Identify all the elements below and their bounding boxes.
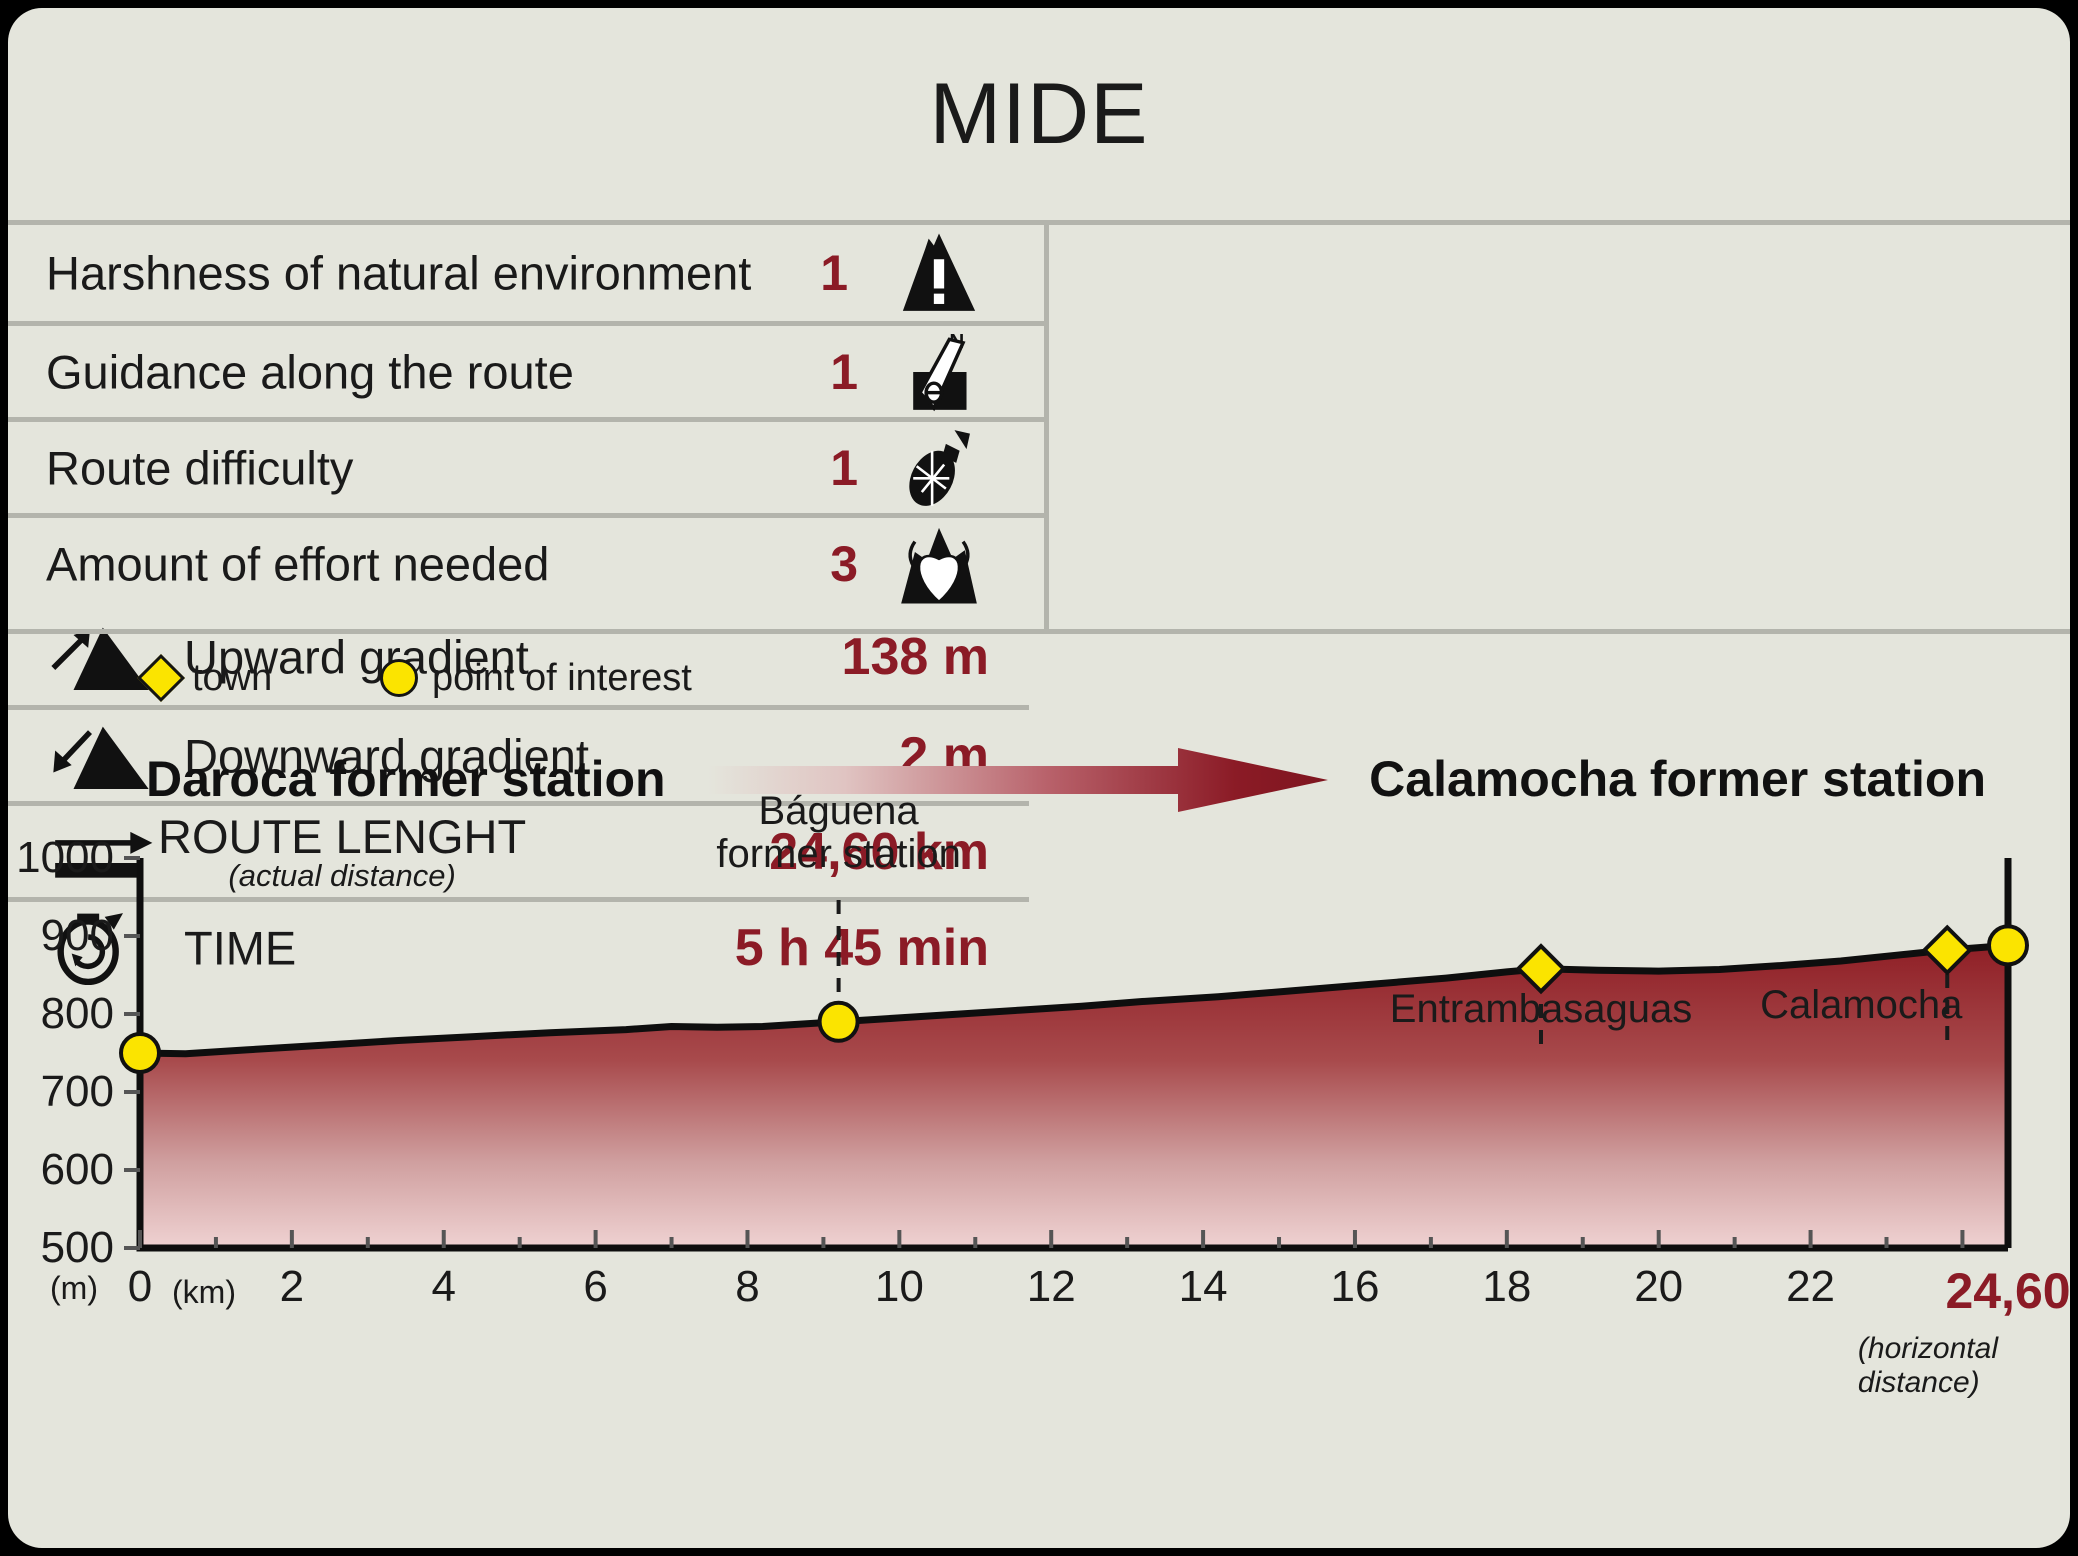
y-tick-label: 700	[41, 1067, 114, 1117]
waypoint-marker-poi[interactable]	[121, 1034, 159, 1072]
x-tick-label: 24,60	[1945, 1262, 2070, 1320]
elevation-profile-chart: 5006007008009001000024681012141618202224…	[8, 848, 2070, 1548]
criterion-value: 3	[830, 535, 858, 593]
table-row: Route difficulty 1	[8, 417, 1044, 513]
x-tick-label: 20	[1634, 1262, 1683, 1312]
x-tick-label: 22	[1786, 1262, 1835, 1312]
table-vertical-divider	[1044, 225, 1049, 629]
y-tick-label: 800	[41, 989, 114, 1039]
criterion-label: Guidance along the route	[46, 344, 574, 399]
y-tick-label: 1000	[16, 833, 114, 883]
route-endpoints: Daroca former station Calamocha former s…	[8, 734, 2070, 824]
mide-panel: MIDE Harshness of natural environment 1 …	[8, 8, 2070, 1548]
compass-icon: N	[896, 329, 982, 415]
table-row: Amount of effort needed 3	[8, 513, 1044, 609]
elevation-plot	[8, 848, 2070, 1548]
x-tick-label: 14	[1179, 1262, 1228, 1312]
x-tick-label: 12	[1027, 1262, 1076, 1312]
waypoint-label: Entrambasaguas	[1390, 988, 1692, 1031]
mide-table: Harshness of natural environment 1 Guida…	[8, 225, 2070, 629]
x-axis-description: (horizontal distance)	[1858, 1332, 1998, 1400]
table-row: Harshness of natural environment 1	[8, 225, 1044, 321]
boot-icon	[896, 425, 982, 511]
table-row: Guidance along the route 1 N	[8, 321, 1044, 417]
x-tick-label: 8	[735, 1262, 759, 1312]
legend-item-poi: point of interest	[380, 648, 692, 708]
waypoint-marker-poi[interactable]	[1989, 926, 2027, 964]
criterion-label: Harshness of natural environment	[46, 246, 751, 301]
elevation-area	[140, 945, 2008, 1248]
x-tick-label: 6	[583, 1262, 607, 1312]
legend-item-town: town	[144, 648, 272, 708]
waypoint-marker-poi[interactable]	[820, 1003, 858, 1041]
x-tick-label: 0	[128, 1262, 152, 1312]
warning-triangle-icon	[896, 230, 982, 316]
criterion-value: 1	[830, 343, 858, 401]
criterion-label: Amount of effort needed	[46, 536, 549, 591]
x-tick-label: 4	[431, 1262, 455, 1312]
y-axis-unit-label: (m)	[50, 1270, 98, 1307]
route-end-label: Calamocha former station	[1369, 734, 1986, 824]
page-title: MIDE	[8, 8, 2070, 220]
x-tick-label: 16	[1330, 1262, 1379, 1312]
waypoint-label: Báguenaformer station	[716, 790, 961, 876]
circle-marker-icon	[380, 659, 418, 697]
y-tick-label: 900	[41, 911, 114, 961]
legend-label: town	[192, 657, 272, 700]
criterion-value: 1	[820, 244, 848, 302]
heart-mountain-icon	[896, 521, 982, 607]
criterion-value: 1	[830, 439, 858, 497]
x-tick-label: 18	[1482, 1262, 1531, 1312]
y-tick-label: 600	[41, 1145, 114, 1195]
chart-legend: town point of interest	[8, 648, 2070, 734]
waypoint-label: Calamocha	[1760, 984, 1962, 1027]
diamond-marker-icon	[137, 654, 185, 702]
mide-criteria-column: Harshness of natural environment 1 Guida…	[8, 225, 1044, 609]
route-start-label: Daroca former station	[146, 734, 666, 824]
legend-label: point of interest	[432, 657, 692, 700]
y-tick-label: 500	[41, 1223, 114, 1273]
x-axis-unit-label: (km)	[172, 1274, 236, 1311]
table-bottom-divider	[8, 629, 2070, 634]
x-tick-label: 2	[280, 1262, 304, 1312]
criterion-label: Route difficulty	[46, 440, 353, 495]
x-tick-label: 10	[875, 1262, 924, 1312]
